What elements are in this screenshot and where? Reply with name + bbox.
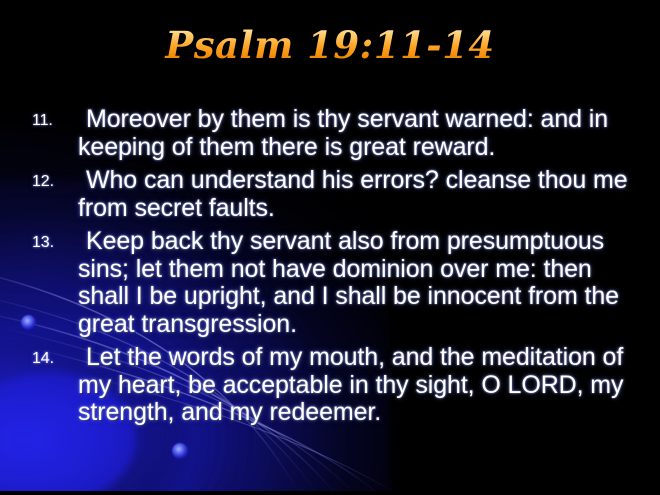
verse-number: 13. <box>32 234 74 252</box>
slide-title: Psalm 19:11-14 <box>0 24 660 67</box>
verse-item: 12. Who can understand his errors? clean… <box>28 167 640 222</box>
verse-number: 12. <box>32 173 74 191</box>
verse-number: 14. <box>32 350 74 368</box>
verse-text: Let the words of my mouth, and the medit… <box>78 344 640 427</box>
verse-item: 14. Let the words of my mouth, and the m… <box>28 344 640 427</box>
verse-text: Keep back thy servant also from presumpt… <box>78 228 640 338</box>
glow-dot-icon <box>172 443 188 459</box>
presentation-slide: Psalm 19:11-14 11. Moreover by them is t… <box>0 0 660 495</box>
verse-item: 13. Keep back thy servant also from pres… <box>28 228 640 338</box>
verse-text: Who can understand his errors? cleanse t… <box>78 167 640 222</box>
verse-list: 11. Moreover by them is thy servant warn… <box>28 106 640 433</box>
verse-text: Moreover by them is thy servant warned: … <box>78 106 640 161</box>
verse-number: 11. <box>32 112 74 130</box>
bottom-edge-strip <box>0 491 660 495</box>
verse-item: 11. Moreover by them is thy servant warn… <box>28 106 640 161</box>
